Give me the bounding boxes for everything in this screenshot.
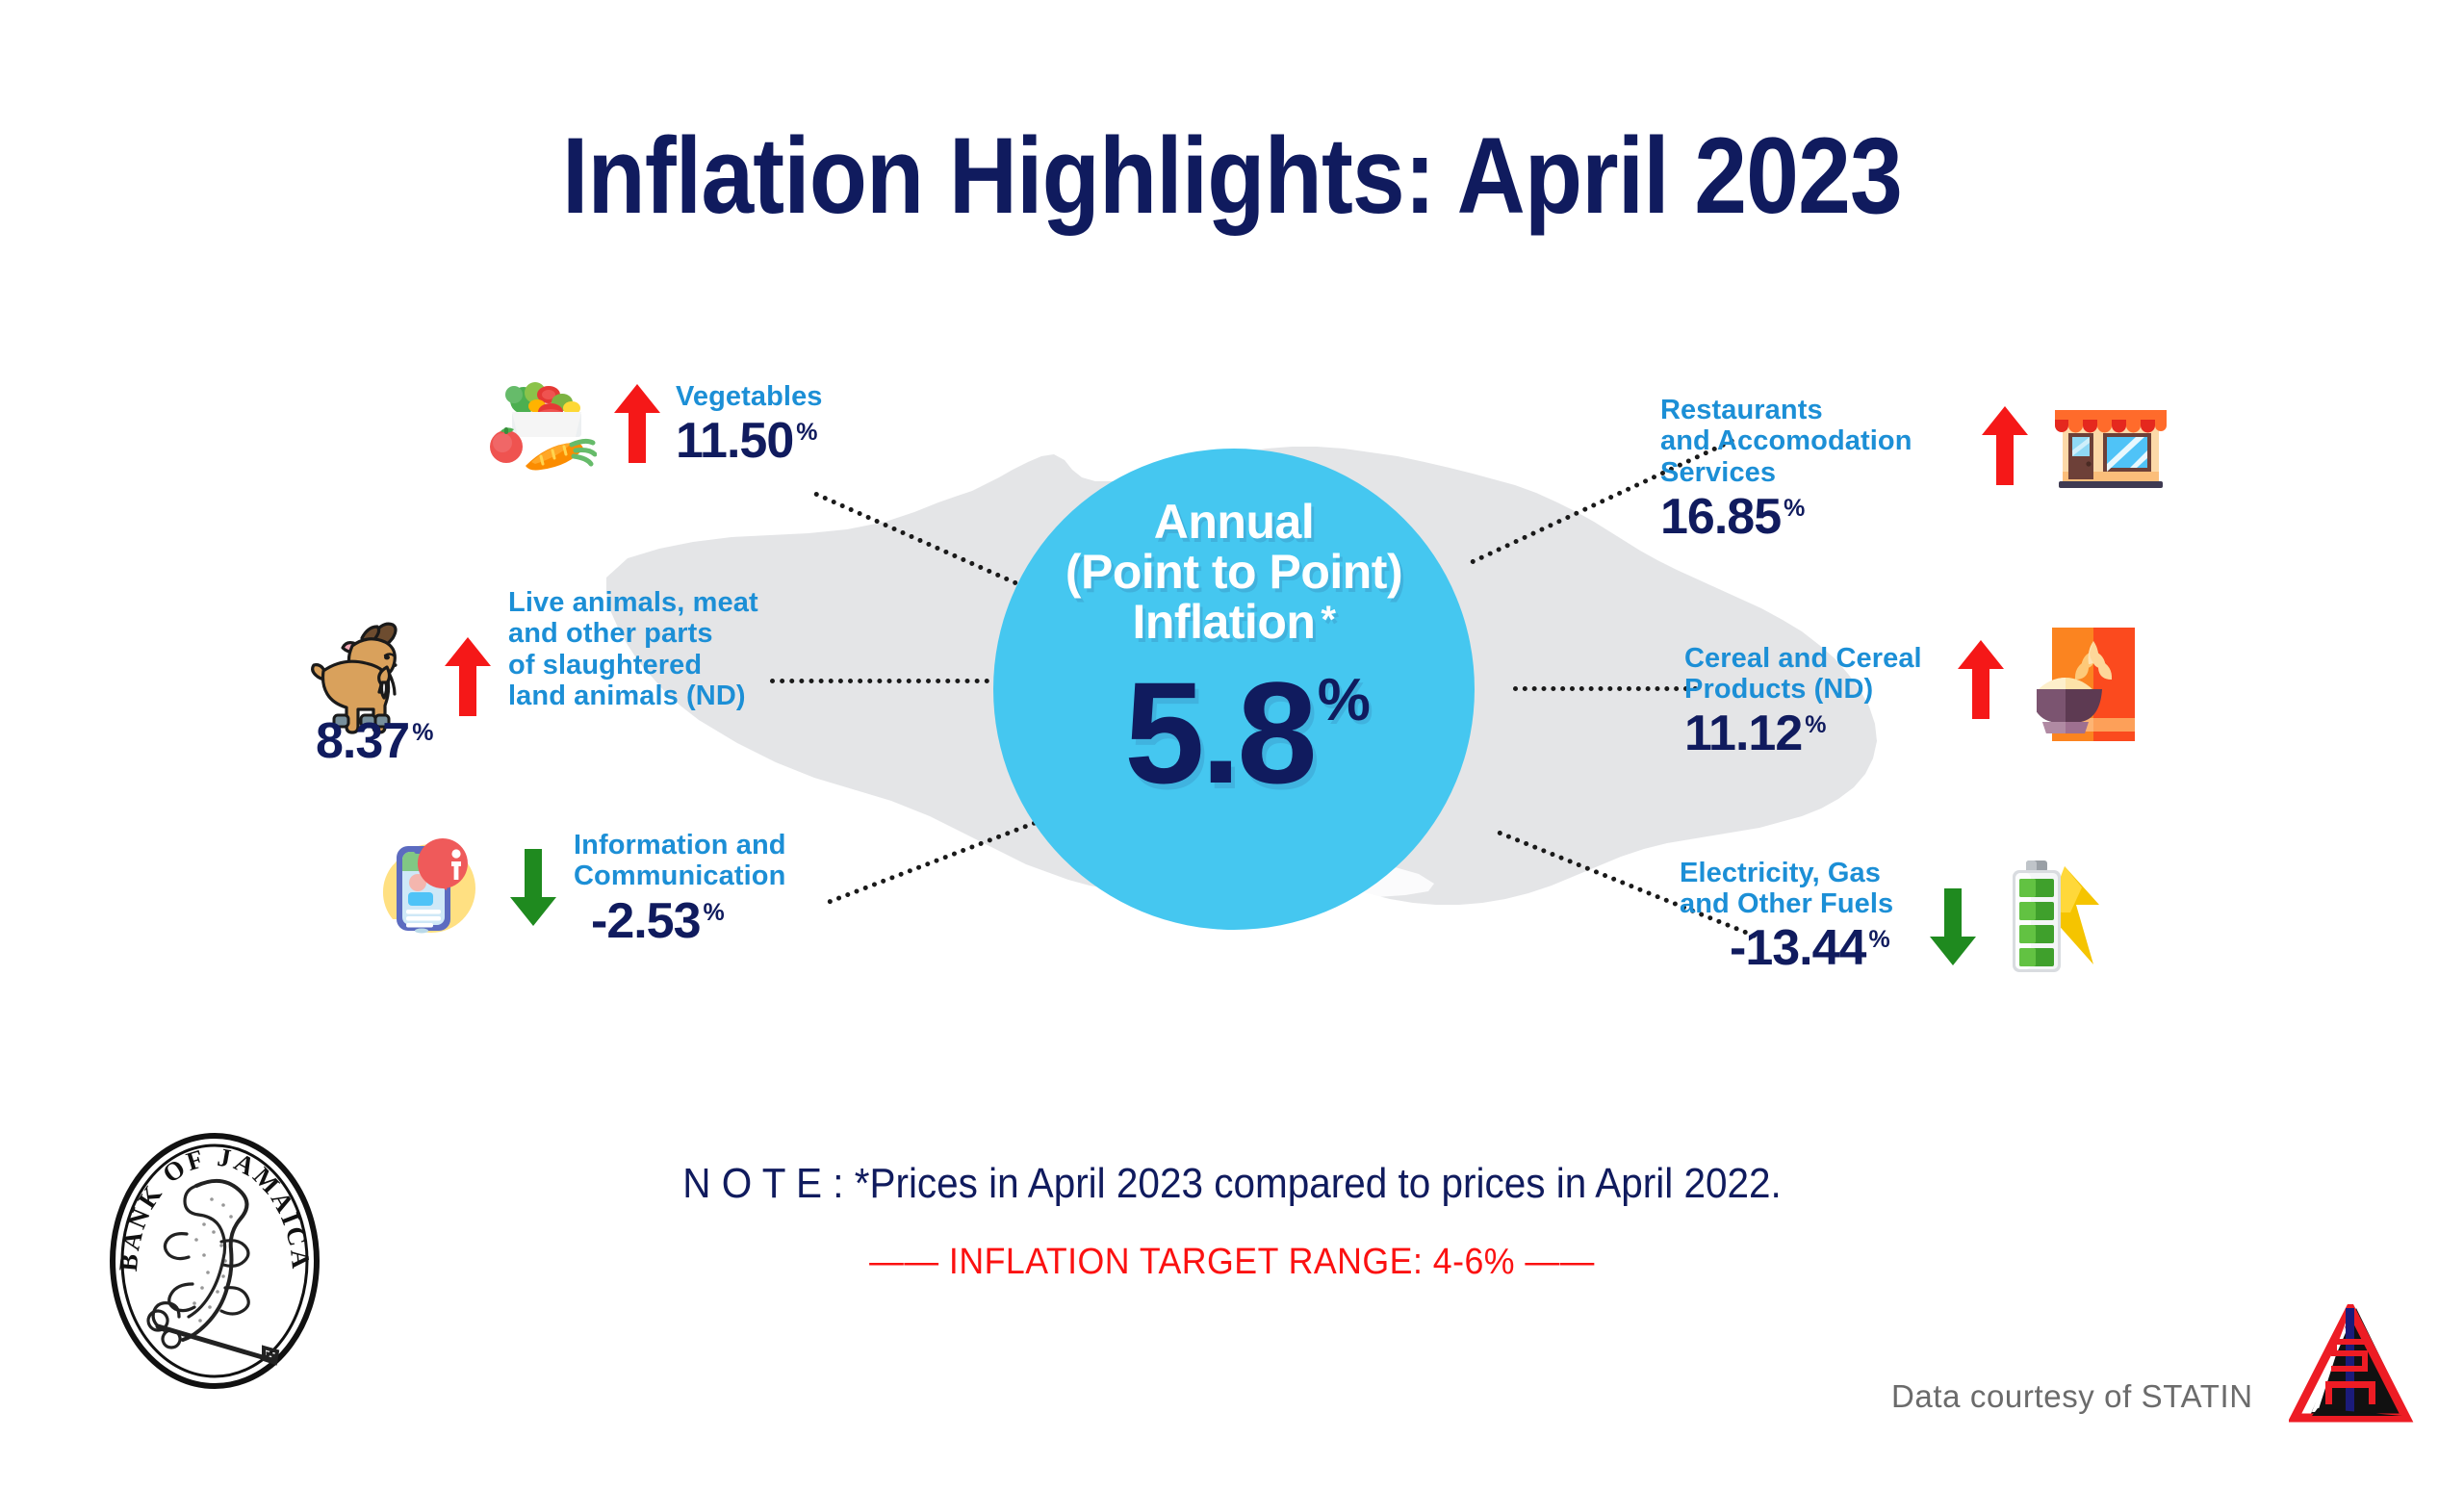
connector-cereal [1513,686,1698,691]
page-title: Inflation Highlights: April 2023 [148,114,2317,238]
bubble-inflation-word: Inflation [1133,595,1316,649]
stat-value-row: 16.85 % [1660,492,1805,542]
stat-value: -13.44 [1730,923,1865,973]
up-arrow-icon [1958,640,2004,719]
stat-electricity-gas-fuels: Electricity, Gas and Other Fuels -13.44 … [1680,847,2118,984]
stat-label: Information and Communication [574,830,786,892]
bubble-line-point-to-point: (Point to Point) [1065,547,1402,597]
bubble-value-row: 5.8 % [1124,664,1371,802]
stat-percent-sign: % [796,419,817,447]
stat-percent-sign: % [1784,495,1805,523]
stat-value: 8.37 [316,716,409,766]
infographic-canvas: Inflation Highlights: April 2023 Annual … [0,0,2464,1490]
stat-information-communication: Information and Communication -2.53 % [375,830,786,946]
up-arrow-icon [1982,406,2028,485]
down-arrow-icon [510,849,556,926]
note-text: N O T E : *Prices in April 2023 compared… [98,1160,2365,1208]
stat-percent-sign: % [1868,926,1889,954]
stat-value: 11.50 [676,416,793,466]
bubble-line-inflation: Inflation* [1133,597,1336,647]
smartphone-info-icon [375,831,491,944]
data-credit-text: Data courtesy of STATIN [1891,1378,2253,1415]
stat-value: 11.12 [1684,708,1802,758]
annual-inflation-bubble: Annual (Point to Point) Inflation* 5.8 % [993,449,1475,930]
bank-of-jamaica-logo: BANK OF JAMAICA [104,1132,325,1390]
stat-restaurants-accommodation: Restaurants and Accomodation Services 16… [1660,395,2172,542]
inflation-target-range: —— INFLATION TARGET RANGE: 4-6% —— [74,1242,2390,1283]
stat-percent-sign: % [412,719,433,747]
battery-lightning-icon [1993,859,2118,984]
stat-value-row: 11.12 % [1684,708,1827,758]
stat-value: 16.85 [1660,492,1781,542]
connector-live-animals [770,679,989,683]
annual-inflation-percent-sign: % [1318,666,1371,734]
storefront-icon [2049,397,2172,497]
up-arrow-icon [445,637,491,716]
annual-inflation-value: 5.8 [1124,664,1314,802]
up-arrow-icon [614,384,660,463]
stat-label: Cereal and Cereal Products (ND) [1684,643,1922,706]
bubble-line-annual: Annual [1154,497,1314,547]
stat-label: Live animals, meat and other parts of sl… [508,587,758,712]
stat-percent-sign: % [704,899,725,927]
stat-label: Vegetables [676,381,823,412]
statin-logo [2289,1304,2419,1425]
cereal-box-bowl-icon [2037,626,2143,743]
stat-cereal-products: Cereal and Cereal Products (ND) 11.12 % [1684,626,2143,776]
vegetables-basket-icon [481,373,597,474]
stat-value-row: 8.37 % [316,716,758,766]
stat-value-row: 11.50 % [676,416,823,466]
stat-value-row: -13.44 % [1730,923,1890,973]
bubble-asterisk: * [1321,599,1335,641]
stat-percent-sign: % [1805,711,1826,739]
stat-vegetables: Vegetables 11.50 % [481,373,823,474]
stat-label: Restaurants and Accomodation Services [1660,395,1912,488]
down-arrow-icon [1930,888,1976,965]
stat-value-row: -2.53 % [591,896,786,946]
stat-value: -2.53 [591,896,701,946]
stat-live-animals: Live animals, meat and other parts of sl… [306,587,758,766]
stat-label: Electricity, Gas and Other Fuels [1680,858,1893,920]
